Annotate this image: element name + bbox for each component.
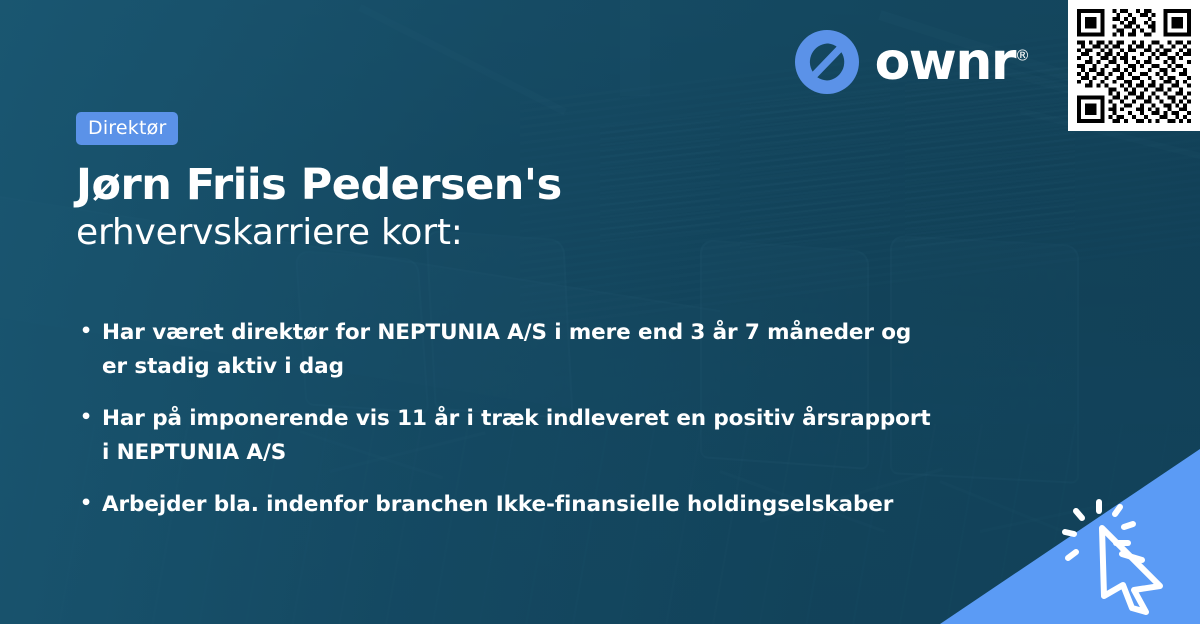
ownr-circle-swoosh-icon bbox=[793, 28, 861, 96]
list-item: Har været direktør for NEPTUNIA A/S i me… bbox=[76, 316, 932, 384]
page-subtitle: erhvervskarriere kort: bbox=[76, 211, 1000, 254]
business-career-card: ownr® Direktør Jørn Friis Pedersen's erh… bbox=[0, 0, 1200, 624]
logo-word-text: ownr bbox=[875, 32, 1015, 92]
registered-mark: ® bbox=[1015, 47, 1030, 65]
list-item: Har på imponerende vis 11 år i træk indl… bbox=[76, 402, 932, 470]
list-item: Arbejder bla. indenfor branchen Ikke-fin… bbox=[76, 488, 932, 522]
page-title: Jørn Friis Pedersen's bbox=[76, 161, 1000, 209]
career-facts-list: Har været direktør for NEPTUNIA A/S i me… bbox=[76, 316, 1000, 522]
logo-wordmark: ownr® bbox=[875, 36, 1030, 88]
ownr-logo[interactable]: ownr® bbox=[793, 28, 1030, 96]
qr-code[interactable] bbox=[1068, 0, 1200, 131]
click-cursor-icon bbox=[1060, 498, 1190, 616]
content-block: Direktør Jørn Friis Pedersen's erhvervsk… bbox=[76, 112, 1000, 540]
role-badge: Direktør bbox=[76, 112, 178, 145]
